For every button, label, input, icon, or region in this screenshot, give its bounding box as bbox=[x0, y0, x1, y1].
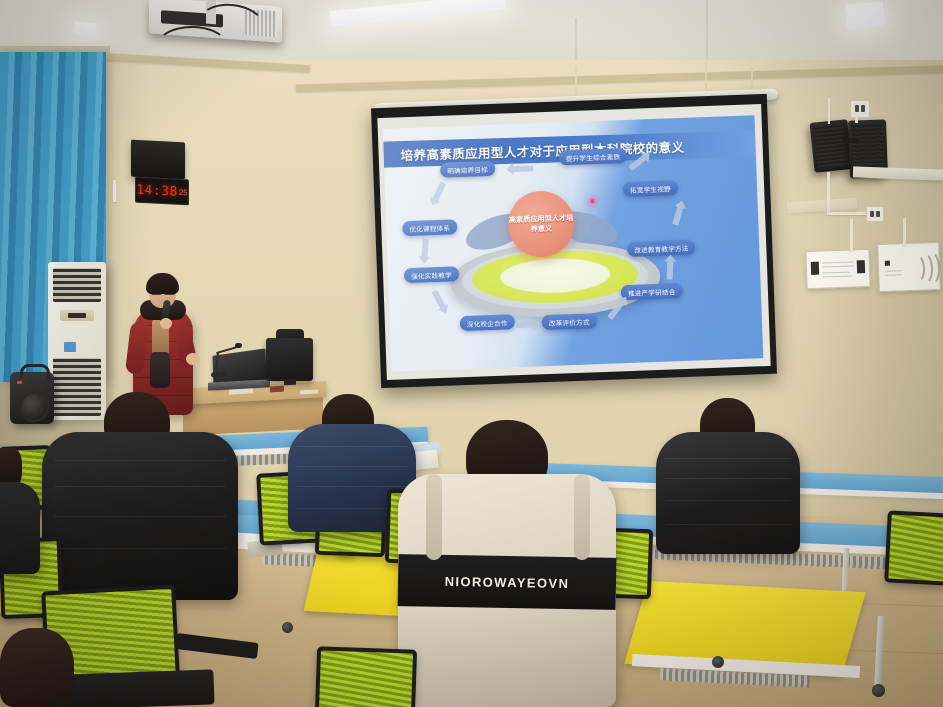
outlet-slot bbox=[855, 105, 859, 112]
floor-air-conditioner bbox=[48, 262, 106, 420]
attendee-jacket bbox=[656, 432, 800, 554]
chair-caster bbox=[282, 622, 293, 633]
slide-pill-left-1: 明确培养目标 bbox=[440, 161, 495, 178]
desk-caster bbox=[872, 684, 885, 697]
poster-hanger bbox=[850, 219, 853, 251]
chair-caster bbox=[712, 656, 724, 668]
poster-text-line bbox=[885, 270, 901, 272]
attendee-jacket bbox=[0, 482, 40, 574]
ac-bottom-vent bbox=[53, 358, 101, 416]
slide-pill-right-4: 推进产学研结合 bbox=[621, 283, 683, 300]
portable-pa-speaker bbox=[10, 372, 54, 424]
poster-arc bbox=[919, 250, 940, 287]
ac-top-vent bbox=[53, 268, 101, 302]
projected-slide: 培养高素质应用型人才对于应用型本科院校的意义 高素质应用型人才培养意义 明确培养… bbox=[383, 115, 764, 371]
flow-arrow bbox=[511, 165, 533, 172]
wall-outlet bbox=[866, 206, 884, 222]
presenter-hand-left bbox=[160, 318, 172, 329]
wall-outlet bbox=[850, 100, 870, 118]
poster-block bbox=[885, 261, 890, 266]
ac-label bbox=[64, 342, 76, 352]
outlet-slot bbox=[876, 211, 880, 217]
ac-display bbox=[68, 313, 86, 318]
wall-poster-right bbox=[877, 242, 941, 292]
presenter-scarf-lower bbox=[150, 352, 170, 388]
flow-arrow bbox=[432, 290, 447, 310]
monitor-stand bbox=[284, 379, 296, 386]
ceiling-light-panel bbox=[845, 1, 885, 29]
gooseneck-mic-head bbox=[235, 343, 242, 348]
poster-text-line bbox=[885, 274, 901, 276]
flow-arrow bbox=[421, 238, 428, 258]
poster-text-line bbox=[822, 261, 854, 263]
presenter-hand-right bbox=[186, 353, 200, 365]
attendee-jacket: NIOROWAYEOVN bbox=[398, 474, 616, 707]
clock-wire bbox=[113, 180, 116, 202]
jacket-chest-band: NIOROWAYEOVN bbox=[398, 554, 617, 610]
slide-pill-left-2: 优化课程体系 bbox=[402, 219, 457, 236]
lectern-object bbox=[270, 386, 284, 393]
slide-pill-left-3: 强化实践教学 bbox=[404, 266, 459, 283]
speaker-led bbox=[17, 381, 22, 384]
clock-seconds: 25 bbox=[179, 187, 188, 196]
gooseneck-mic-base bbox=[211, 372, 227, 378]
classroom-photo: 14:3825 培养高素质应用型人才对于应用型本科院校的意义 bbox=[0, 0, 943, 707]
slide-pill-right-1: 提升学生综合素质 bbox=[559, 148, 628, 165]
poster-text-line bbox=[822, 272, 850, 274]
poster-text-line bbox=[822, 265, 854, 267]
poster-text-line bbox=[822, 276, 852, 278]
jacket-hood-fold bbox=[574, 474, 590, 560]
flow-arrow bbox=[432, 182, 446, 203]
outlet-slot bbox=[861, 105, 865, 112]
laser-pointer-dot bbox=[590, 199, 594, 203]
speaker-grille bbox=[813, 122, 849, 169]
jacket-hood-fold bbox=[426, 474, 442, 560]
slide-pill-left-4: 深化校企合作 bbox=[460, 314, 515, 331]
speaker-bracket bbox=[843, 138, 859, 143]
speaker-wire bbox=[828, 98, 830, 124]
slide-pill-right-3: 改进教育教学方法 bbox=[627, 240, 696, 257]
flow-arrow bbox=[672, 205, 683, 226]
outlet-slot bbox=[870, 211, 874, 217]
wall-speaker-left bbox=[809, 119, 852, 173]
ac-control-panel bbox=[60, 310, 94, 321]
wall-monitor bbox=[131, 140, 185, 180]
led-wall-clock: 14:3825 bbox=[135, 177, 189, 206]
slide-center-label: 高素质应用型人才培养意义 bbox=[508, 213, 575, 236]
chair-far-right[interactable] bbox=[884, 510, 943, 585]
attendee-jacket bbox=[42, 432, 238, 600]
flow-arrow bbox=[516, 321, 536, 328]
ceiling-grid-line bbox=[575, 18, 577, 64]
attendee-head bbox=[0, 628, 74, 707]
chair-foreground-center[interactable] bbox=[315, 646, 417, 707]
flow-arrow bbox=[667, 259, 674, 279]
speaker-wire bbox=[855, 113, 858, 123]
slide-pill-right-2: 拓宽学生视野 bbox=[623, 180, 678, 197]
poster-block bbox=[857, 260, 865, 273]
wall-poster-left bbox=[805, 249, 870, 289]
ceiling-grid-line bbox=[706, 0, 708, 60]
poster-block bbox=[811, 262, 819, 275]
poster-hanger bbox=[903, 218, 906, 246]
speaker-handle bbox=[20, 364, 50, 379]
chair-seat[interactable] bbox=[61, 669, 214, 707]
desktop-monitor bbox=[266, 338, 313, 381]
slide-pill-bottom: 改革评价方式 bbox=[542, 313, 597, 330]
ceiling-light-panel bbox=[73, 21, 96, 36]
speaker-cone bbox=[19, 392, 49, 422]
presenter-hair bbox=[146, 273, 179, 294]
clock-time: 14:38 bbox=[136, 182, 178, 199]
jacket-text: NIOROWAYEOVN bbox=[445, 573, 570, 590]
